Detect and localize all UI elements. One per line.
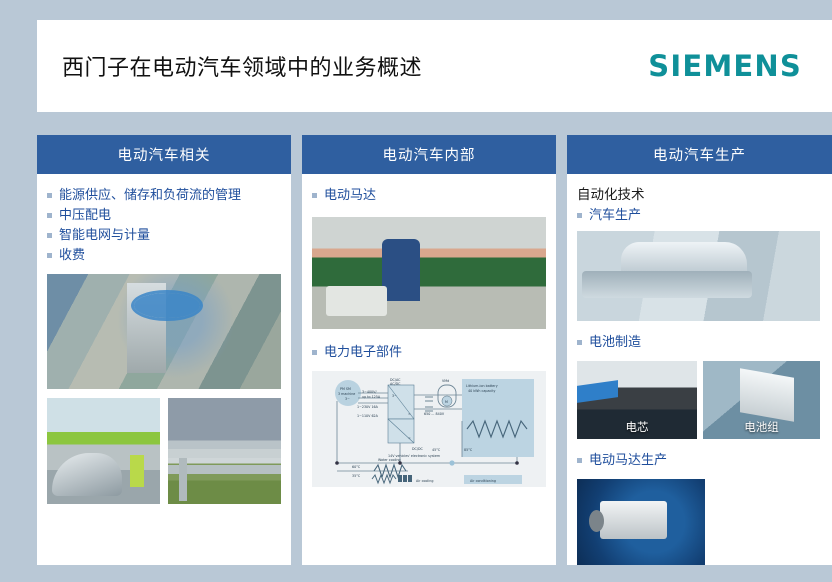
- section-heading-motor-production: 电动马达生产: [577, 451, 822, 470]
- image-caption: 电芯: [577, 419, 697, 435]
- list-item: 收费: [47, 246, 281, 265]
- car-body-line-image: [577, 231, 820, 321]
- bullet-square-icon: [577, 458, 582, 463]
- section-heading-car-production: 汽车生产: [577, 206, 822, 225]
- svg-text:M: M: [445, 400, 448, 404]
- section-label: 电力电子部件: [324, 343, 402, 362]
- column-body-2: 电动马达 电力电子部件: [302, 174, 556, 565]
- bullet-square-icon: [312, 350, 317, 355]
- svg-text:650 ... 840V: 650 ... 840V: [424, 412, 445, 416]
- column-ev-internal: 电动汽车内部 电动马达 电力电子部件: [302, 135, 556, 565]
- svg-text:AC/DC: AC/DC: [390, 382, 401, 386]
- svg-text:=: =: [408, 412, 411, 416]
- bullet-label: 收费: [59, 246, 85, 265]
- columns-container: 电动汽车相关 能源供应、储存和负荷流的管理 中压配电 智能电网与计量: [37, 135, 832, 565]
- bullet-square-icon: [577, 213, 582, 218]
- section-heading-automation: 自动化技术: [577, 186, 822, 205]
- list-item: 智能电网与计量: [47, 226, 281, 245]
- svg-text:1~230V 16A: 1~230V 16A: [357, 405, 379, 409]
- section-heading-electric-motor: 电动马达: [312, 186, 546, 205]
- section-label: 汽车生产: [589, 206, 641, 225]
- column-body-1: 能源供应、储存和负荷流的管理 中压配电 智能电网与计量 收费: [37, 174, 291, 565]
- bullet-square-icon: [577, 340, 582, 345]
- image-pair-row: [47, 398, 281, 504]
- powertrain-schematic-diagram: PM SM 3 machine 3~ 3~400V/ up to 125A 1~…: [312, 371, 546, 487]
- svg-text:3~: 3~: [345, 397, 350, 401]
- section-label: 电池制造: [589, 333, 641, 352]
- bullet-square-icon: [47, 233, 52, 238]
- slide-canvas: 西门子在电动汽车领域中的业务概述 SIEMENS 电动汽车相关 能源供应、储存和…: [0, 0, 832, 582]
- battery-pack-image: 电池组: [703, 361, 820, 439]
- svg-text:3 machine: 3 machine: [338, 392, 355, 396]
- list-item: 中压配电: [47, 206, 281, 225]
- svg-text:1~110V 62A: 1~110V 62A: [357, 414, 379, 418]
- svg-text:DC/DC: DC/DC: [412, 447, 423, 451]
- column-body-3: 自动化技术 汽车生产 电池制造 电芯 电池组: [567, 174, 832, 565]
- title-bar: 西门子在电动汽车领域中的业务概述 SIEMENS: [37, 20, 832, 112]
- ev-charging-street-image: [47, 398, 160, 504]
- bullet-square-icon: [47, 213, 52, 218]
- battery-image-pair: 电芯 电池组: [577, 361, 822, 439]
- column-ev-related: 电动汽车相关 能源供应、储存和负荷流的管理 中压配电 智能电网与计量: [37, 135, 291, 565]
- svg-text:Air conditioning: Air conditioning: [470, 479, 496, 483]
- column-header-3: 电动汽车生产: [567, 135, 832, 174]
- bullet-square-icon: [47, 253, 52, 258]
- svg-text:85°C: 85°C: [464, 448, 473, 452]
- svg-text:VMd: VMd: [442, 379, 449, 383]
- battery-cell-image: 电芯: [577, 361, 697, 439]
- section-label: 电动马达: [324, 186, 376, 205]
- smart-city-render-image: [47, 274, 281, 389]
- page-title: 西门子在电动汽车领域中的业务概述: [62, 50, 422, 82]
- bullet-square-icon: [312, 193, 317, 198]
- siemens-logo: SIEMENS: [648, 49, 802, 83]
- bullet-label: 中压配电: [59, 206, 111, 225]
- svg-text:Water cooling: Water cooling: [378, 458, 401, 462]
- section-heading-battery-manufacturing: 电池制造: [577, 333, 822, 352]
- image-caption: 电池组: [703, 419, 820, 435]
- svg-text:Lithium-ion battery: Lithium-ion battery: [466, 384, 498, 388]
- bullet-label: 智能电网与计量: [59, 226, 150, 245]
- svg-text:45°C: 45°C: [432, 448, 441, 452]
- bullet-square-icon: [47, 193, 52, 198]
- column-header-2: 电动汽车内部: [302, 135, 556, 174]
- electric-motor-workshop-image: [312, 217, 546, 329]
- svg-text:3~400V/: 3~400V/: [362, 390, 377, 394]
- elevated-highway-image: [168, 398, 281, 504]
- section-label: 电动马达生产: [589, 451, 667, 470]
- svg-text:up to 125A: up to 125A: [362, 395, 381, 399]
- svg-text:60°C: 60°C: [352, 465, 361, 469]
- column-ev-production: 电动汽车生产 自动化技术 汽车生产 电池制造 电芯 电池: [567, 135, 832, 565]
- servo-motor-image: [577, 479, 705, 565]
- list-item: 能源供应、储存和负荷流的管理: [47, 186, 281, 205]
- svg-text:3~: 3~: [392, 394, 397, 398]
- section-heading-power-electronics: 电力电子部件: [312, 343, 546, 362]
- bullet-list-1: 能源供应、储存和负荷流的管理 中压配电 智能电网与计量 收费: [47, 186, 281, 265]
- svg-text:=: =: [408, 436, 411, 440]
- column-header-1: 电动汽车相关: [37, 135, 291, 174]
- svg-text:40 kWh capacity: 40 kWh capacity: [468, 389, 496, 393]
- bullet-label: 能源供应、储存和负荷流的管理: [59, 186, 241, 205]
- svg-text:35°C: 35°C: [352, 474, 361, 478]
- svg-text:PM SM: PM SM: [340, 387, 351, 391]
- svg-text:Air cooling: Air cooling: [416, 479, 433, 483]
